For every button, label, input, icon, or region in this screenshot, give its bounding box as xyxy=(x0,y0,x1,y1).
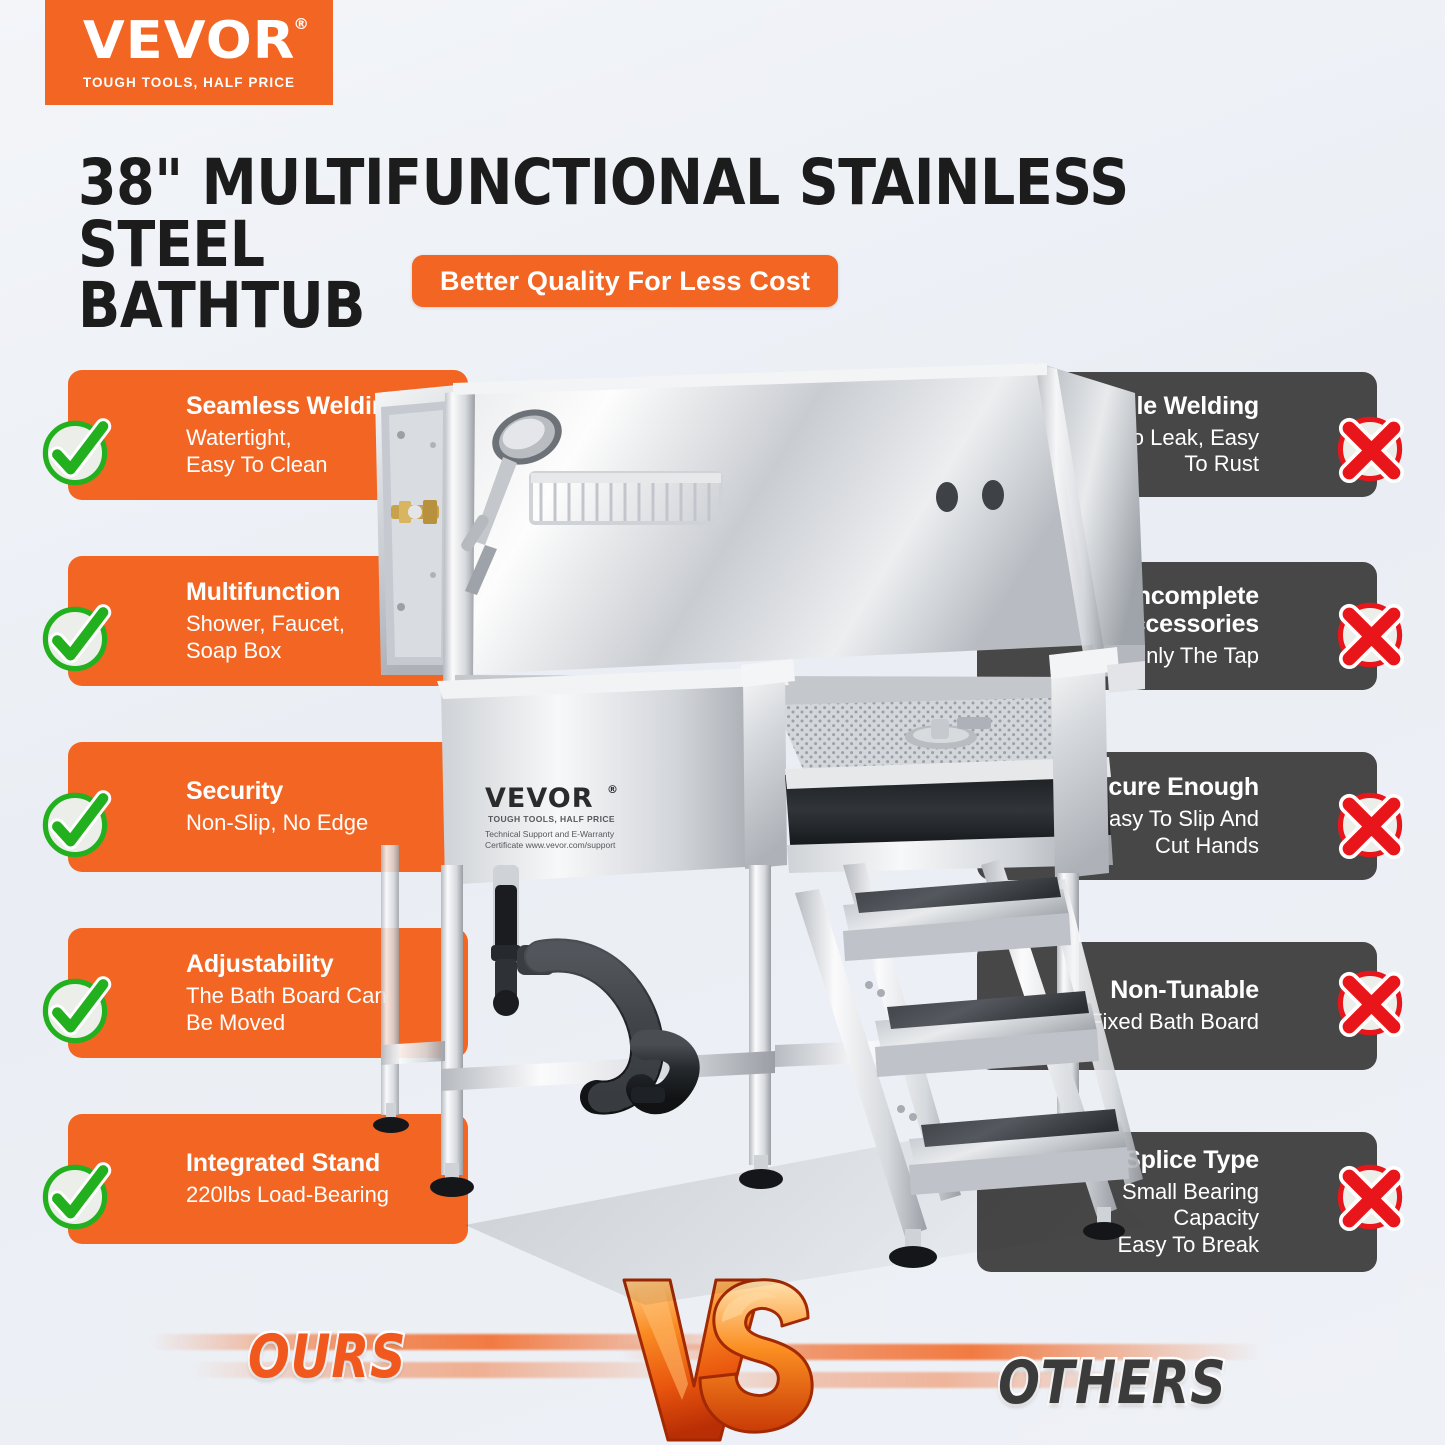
pro-panel-integrated-stand: Integrated Stand 220lbs Load-Bearing xyxy=(68,1114,468,1244)
con-title: Not Secure Enough xyxy=(993,773,1259,801)
logo-tagline: TOUGH TOOLS, HALF PRICE xyxy=(83,75,295,90)
tagline-badge-text: Better Quality For Less Cost xyxy=(440,266,810,297)
con-subtitle: Fixed Bath Board xyxy=(993,1009,1259,1035)
pro-subtitle: Shower, Faucet, Soap Box xyxy=(186,611,452,664)
check-icon xyxy=(38,602,112,676)
check-icon xyxy=(38,1160,112,1234)
con-title: Non-Tunable xyxy=(993,976,1259,1004)
pro-subtitle: The Bath Board Can Be Moved xyxy=(186,983,452,1036)
ours-label: OURS xyxy=(248,1322,406,1392)
vs-badge-icon xyxy=(612,1274,822,1445)
others-label: OTHERS xyxy=(999,1348,1227,1418)
con-panel-non-tunable: Non-Tunable Fixed Bath Board xyxy=(977,942,1377,1070)
pro-subtitle: 220lbs Load-Bearing xyxy=(186,1182,452,1208)
product-brand-label: VEVOR ® TOUGH TOOLS, HALF PRICE Technica… xyxy=(485,783,618,850)
con-panel-not-secure-enough: Not Secure Enough Easy To Slip And Cut H… xyxy=(977,752,1377,880)
pro-title: Security xyxy=(186,777,452,805)
con-panel-incomplete-accessories: Incomplete Accessories Only The Tap xyxy=(977,562,1377,690)
con-title: Incomplete Accessories xyxy=(993,582,1259,638)
check-icon xyxy=(38,788,112,862)
drain-plumbing xyxy=(491,865,685,1103)
con-subtitle: Only The Tap xyxy=(993,643,1259,669)
pro-title: Integrated Stand xyxy=(186,1149,452,1177)
svg-text:TOUGH TOOLS, HALF PRICE: TOUGH TOOLS, HALF PRICE xyxy=(488,814,615,824)
pro-panel-multifunction: Multifunction Shower, Faucet, Soap Box xyxy=(68,556,468,686)
infographic-page: VEVOR ® TOUGH TOOLS, HALF PRICE 38" MULT… xyxy=(0,0,1445,1445)
con-title: Angle Welding xyxy=(993,392,1259,420)
cross-icon xyxy=(1333,1160,1407,1234)
svg-text:Technical Support and E-Warran: Technical Support and E-Warranty xyxy=(485,829,615,839)
pro-subtitle: Watertight, Easy To Clean xyxy=(186,425,452,478)
check-icon xyxy=(38,974,112,1048)
pro-title: Multifunction xyxy=(186,578,452,606)
svg-text:Certificate www.vevor.com/supp: Certificate www.vevor.com/support xyxy=(485,840,616,850)
soap-basket xyxy=(531,473,721,523)
cross-icon xyxy=(1333,412,1407,486)
con-panel-angle-welding: Angle Welding Easy To Leak, Easy To Rust xyxy=(977,372,1377,497)
con-title: Splice Type xyxy=(993,1146,1259,1174)
con-subtitle: Easy To Leak, Easy To Rust xyxy=(993,425,1259,478)
vevor-logo: VEVOR ® TOUGH TOOLS, HALF PRICE xyxy=(45,0,333,105)
con-subtitle: Easy To Slip And Cut Hands xyxy=(993,806,1259,859)
con-subtitle: Small Bearing Capacity Easy To Break xyxy=(993,1179,1259,1258)
pro-panel-security: Security Non-Slip, No Edge xyxy=(68,742,468,872)
page-title-text: 38" MULTIFUNCTIONAL STAINLESS STEEL BATH… xyxy=(78,152,1169,337)
cross-icon xyxy=(1333,598,1407,672)
svg-text:®: ® xyxy=(607,783,618,796)
page-title: 38" MULTIFUNCTIONAL STAINLESS STEEL BATH… xyxy=(78,152,1318,337)
svg-text:VEVOR: VEVOR xyxy=(485,783,594,814)
drain-strainer xyxy=(905,717,991,749)
pro-title: Seamless Welding xyxy=(186,392,452,420)
tub-stand xyxy=(373,845,1079,1197)
shower-head xyxy=(459,399,570,595)
pro-title: Adjustability xyxy=(186,950,452,978)
con-panel-splice-type: Splice Type Small Bearing Capacity Easy … xyxy=(977,1132,1377,1272)
cross-icon xyxy=(1333,788,1407,862)
logo-wordmark-text: VEVOR xyxy=(83,11,296,71)
pro-panel-seamless-welding: Seamless Welding Watertight, Easy To Cle… xyxy=(68,370,468,500)
pro-panel-adjustability: Adjustability The Bath Board Can Be Move… xyxy=(68,928,468,1058)
cross-icon xyxy=(1333,966,1407,1040)
ours-vs-others-banner: OURS xyxy=(0,1300,1445,1445)
check-icon xyxy=(38,416,112,490)
registered-mark-icon: ® xyxy=(293,17,310,32)
logo-wordmark: VEVOR ® xyxy=(83,15,296,67)
tagline-badge: Better Quality For Less Cost xyxy=(412,255,838,307)
pro-subtitle: Non-Slip, No Edge xyxy=(186,810,452,836)
